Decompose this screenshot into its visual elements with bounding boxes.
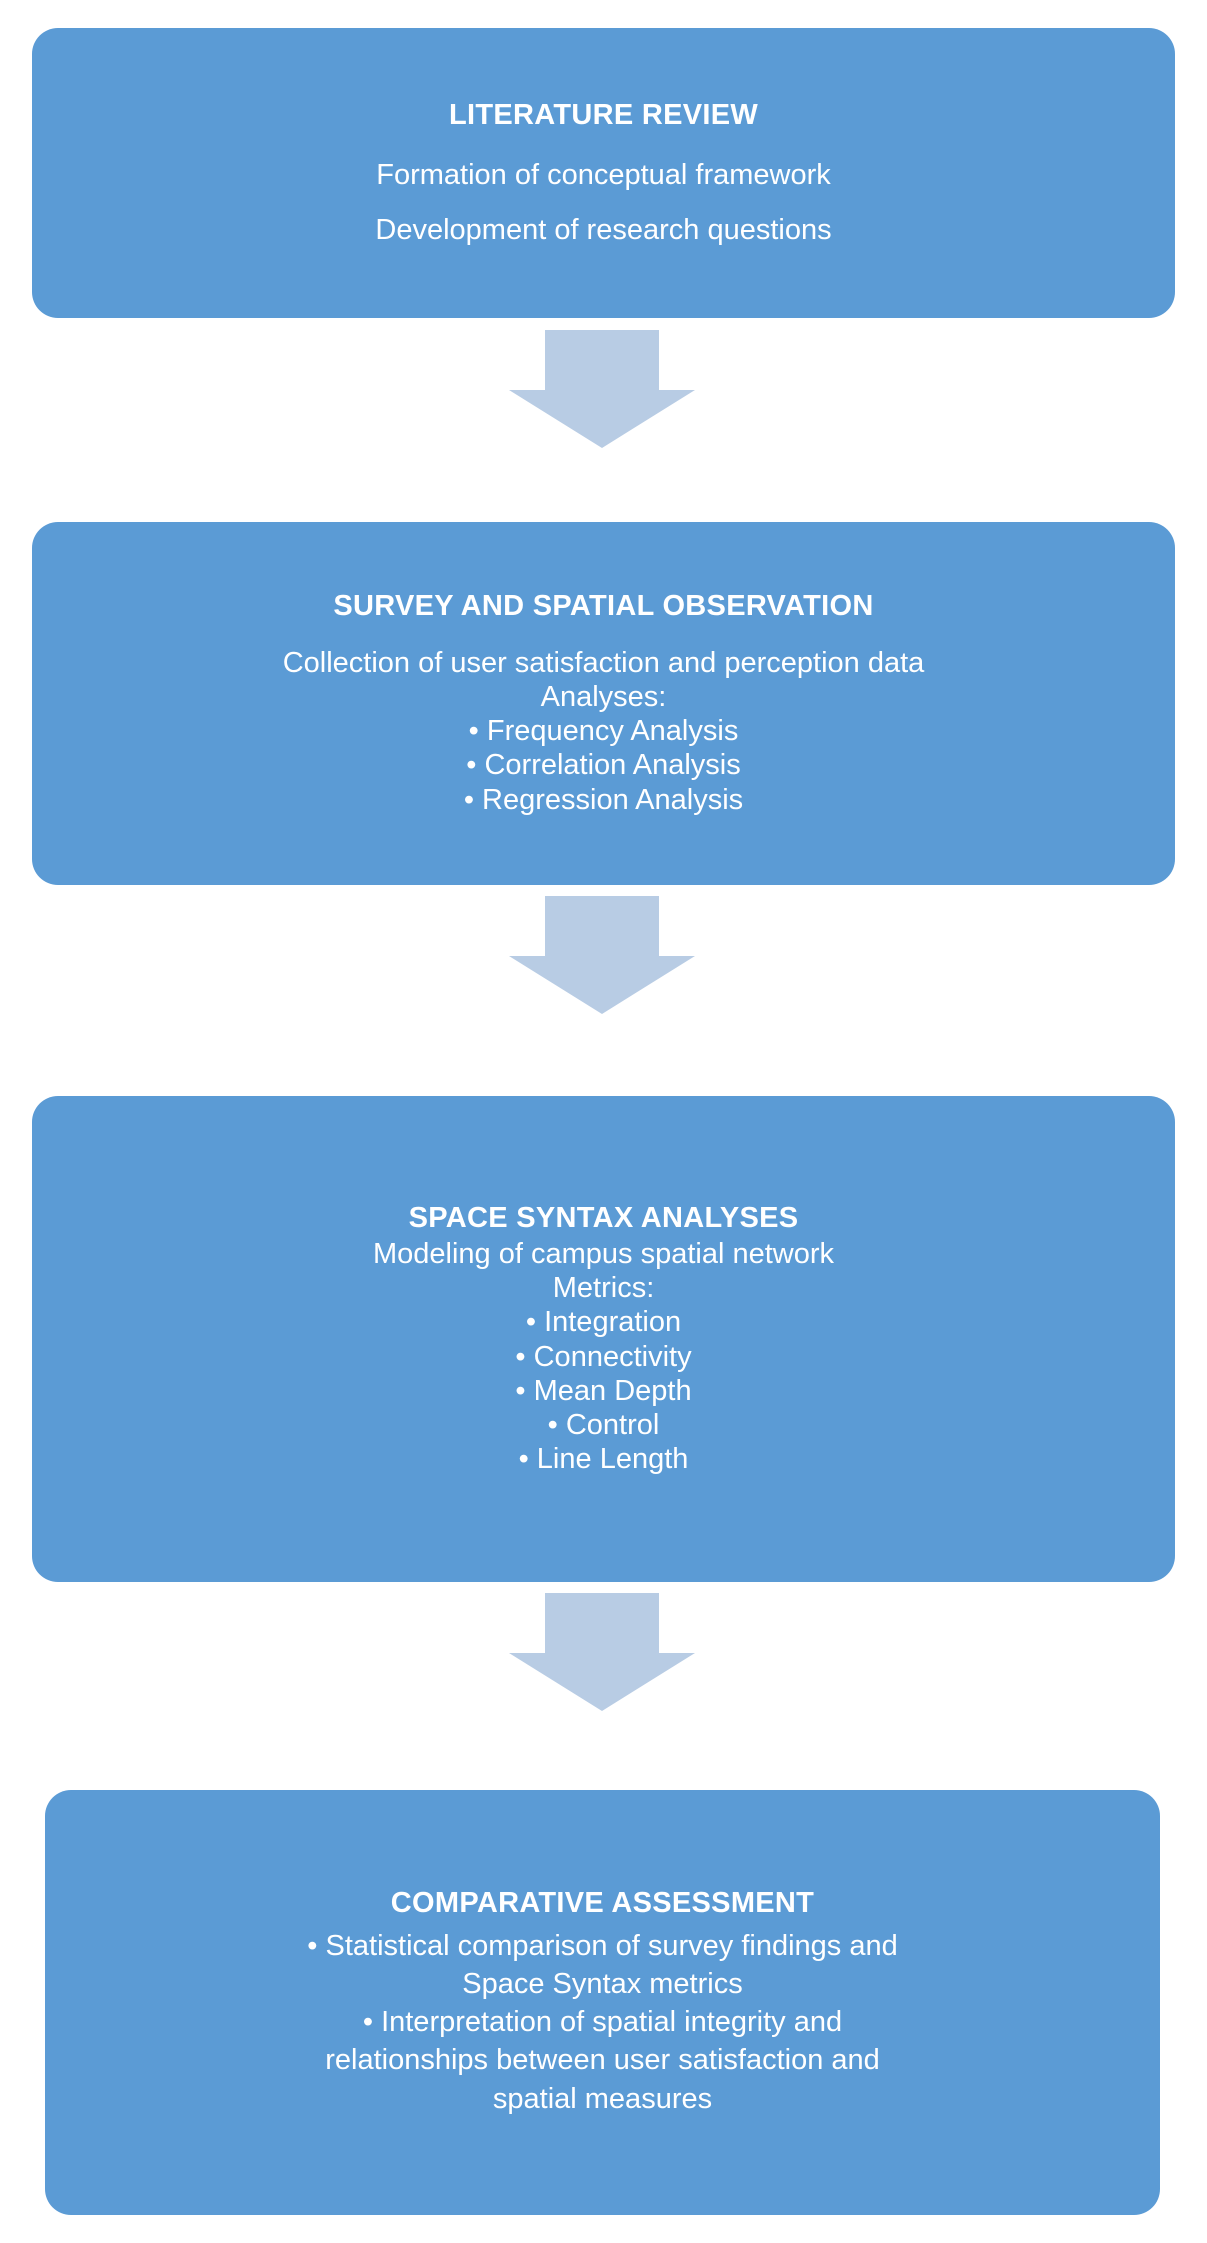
arrow-down-icon bbox=[509, 896, 695, 1014]
node-line: Development of research questions bbox=[375, 213, 831, 247]
node-title: SURVEY AND SPATIAL OBSERVATION bbox=[333, 590, 873, 623]
flow-node-survey-and-spatial-observation: SURVEY AND SPATIAL OBSERVATION Collectio… bbox=[32, 522, 1175, 885]
node-bullet-line: • Line Length bbox=[519, 1442, 689, 1476]
node-title: SPACE SYNTAX ANALYSES bbox=[409, 1202, 799, 1235]
node-line: Analyses: bbox=[541, 680, 667, 714]
arrow-down-icon bbox=[509, 1593, 695, 1711]
node-bullet-line: • Control bbox=[548, 1408, 660, 1442]
node-line: Modeling of campus spatial network bbox=[373, 1237, 834, 1271]
flow-node-literature-review: LITERATURE REVIEW Formation of conceptua… bbox=[32, 28, 1175, 318]
node-line: Collection of user satisfaction and perc… bbox=[283, 646, 925, 680]
node-bullet-line: • Connectivity bbox=[515, 1340, 691, 1374]
node-title: LITERATURE REVIEW bbox=[449, 99, 758, 132]
arrow-down-icon bbox=[509, 330, 695, 448]
node-bullet-line: • Mean Depth bbox=[515, 1374, 691, 1408]
node-bullet-line: • Statistical comparison of survey findi… bbox=[307, 1927, 897, 1965]
node-line: spatial measures bbox=[493, 2080, 712, 2118]
node-bullet-line: • Integration bbox=[526, 1305, 681, 1339]
node-line: Formation of conceptual framework bbox=[376, 158, 831, 192]
node-line: Space Syntax metrics bbox=[462, 1965, 742, 2003]
node-line: Metrics: bbox=[553, 1271, 655, 1305]
flow-node-space-syntax-analyses: SPACE SYNTAX ANALYSES Modeling of campus… bbox=[32, 1096, 1175, 1582]
node-line: relationships between user satisfaction … bbox=[325, 2041, 880, 2079]
node-bullet-line: • Correlation Analysis bbox=[466, 748, 741, 782]
flow-node-comparative-assessment: COMPARATIVE ASSESSMENT • Statistical com… bbox=[45, 1790, 1160, 2215]
flowchart-canvas: LITERATURE REVIEW Formation of conceptua… bbox=[0, 0, 1207, 2243]
node-bullet-line: • Interpretation of spatial integrity an… bbox=[363, 2003, 842, 2041]
node-bullet-line: • Frequency Analysis bbox=[469, 714, 739, 748]
node-bullet-line: • Regression Analysis bbox=[464, 783, 743, 817]
node-title: COMPARATIVE ASSESSMENT bbox=[391, 1887, 814, 1920]
